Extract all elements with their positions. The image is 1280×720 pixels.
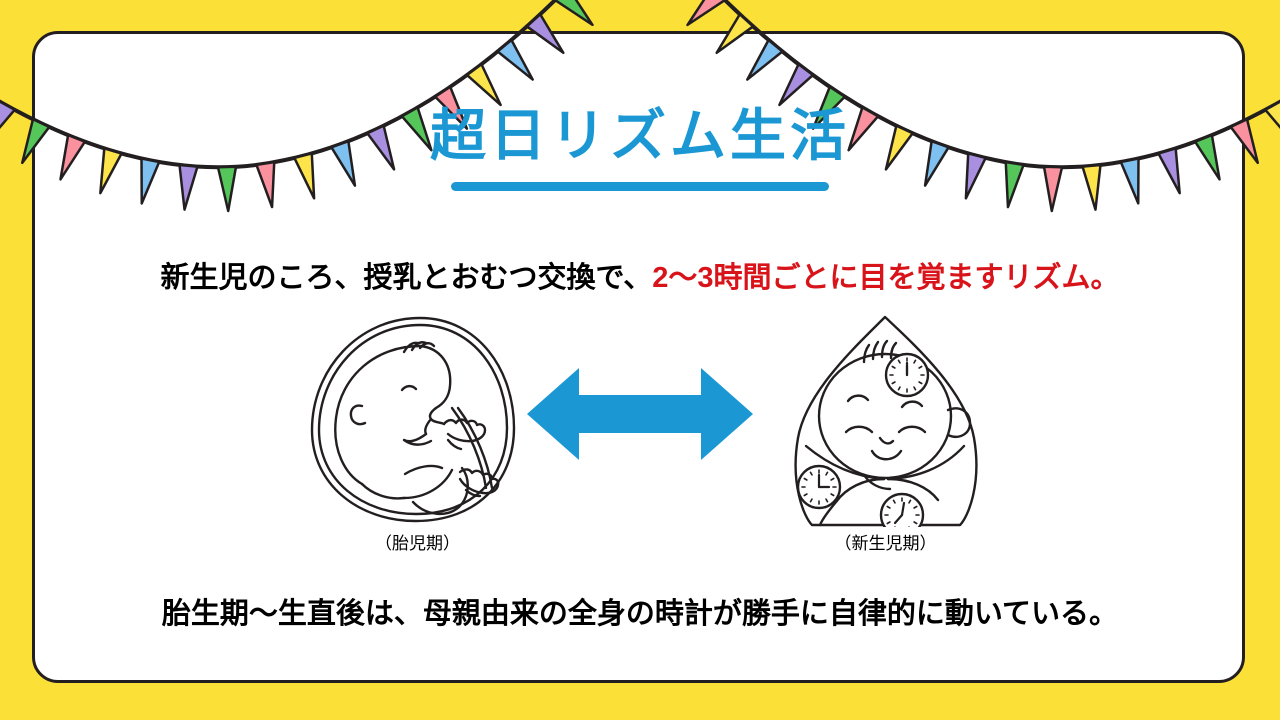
top-sentence-red: 2〜3時間ごとに目を覚ますリズム。	[652, 262, 1119, 294]
clock-lower-left	[798, 466, 840, 508]
bottom-sentence: 胎生期〜生直後は、母親由来の全身の時計が勝手に自律的に動いている。	[0, 590, 1280, 632]
swaddled-newborn-with-clocks-illustration	[768, 312, 1003, 527]
fetus-figure: （胎児期）	[300, 312, 535, 554]
newborn-caption: （新生児期）	[768, 529, 1003, 554]
newborn-figure: （新生児期）	[768, 312, 1003, 554]
fetus-caption: （胎児期）	[300, 529, 535, 554]
clock-lower-center	[881, 494, 923, 527]
slide-root: 超日リズム生活 新生児のころ、授乳とおむつ交換で、2〜3時間ごとに目を覚ますリズ…	[0, 0, 1280, 720]
fetus-in-amniotic-sac-illustration	[300, 312, 535, 527]
illustration-band: （胎児期）	[0, 312, 1280, 562]
top-sentence-black: 新生児のころ、授乳とおむつ交換で、	[160, 262, 652, 294]
double-headed-horizontal-arrow	[527, 364, 753, 464]
page-title: 超日リズム生活	[0, 108, 1280, 164]
title-underline	[451, 182, 829, 191]
title-block: 超日リズム生活	[0, 108, 1280, 191]
clock-forehead	[886, 354, 928, 396]
top-sentence: 新生児のころ、授乳とおむつ交換で、2〜3時間ごとに目を覚ますリズム。	[0, 254, 1280, 296]
